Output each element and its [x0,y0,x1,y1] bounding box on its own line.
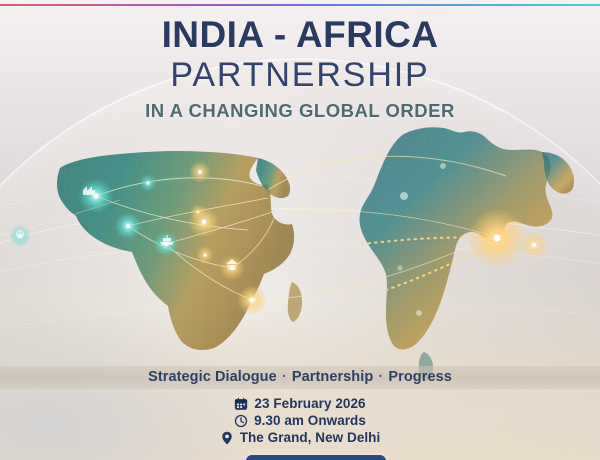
tagline-item-1: Strategic Dialogue [148,369,277,385]
tagline-separator-2: · [377,369,384,385]
location-pin-icon [220,431,234,445]
calendar-icon [234,397,248,411]
page-subtitle: PARTNERSHIP [0,56,600,95]
page-title: INDIA - AFRICA [0,16,600,54]
event-venue-text: The Grand, New Delhi [240,430,381,445]
headline-block: INDIA - AFRICA PARTNERSHIP IN A CHANGING… [0,16,600,122]
event-time-text: 9.30 am Onwards [254,413,366,428]
tagline-text: Strategic Dialogue · Partnership · Progr… [0,369,600,385]
top-gradient-rule [0,4,600,6]
tagline-item-3: Progress [388,369,451,385]
page-tagline: IN A CHANGING GLOBAL ORDER [0,100,600,122]
event-poster: INDIA - AFRICA PARTNERSHIP IN A CHANGING… [0,0,600,460]
event-time-row: 9.30 am Onwards [234,413,366,428]
event-date-text: 23 February 2026 [254,396,365,411]
tagline-separator-1: · [281,369,288,385]
event-details: 23 February 2026 9.30 am Onwards The Gra… [0,396,600,445]
event-date-row: 23 February 2026 [234,396,365,411]
bottom-cta-pill[interactable] [246,455,386,460]
tagline-item-2: Partnership [292,369,373,385]
clock-icon [234,414,248,428]
event-venue-row: The Grand, New Delhi [220,430,381,445]
